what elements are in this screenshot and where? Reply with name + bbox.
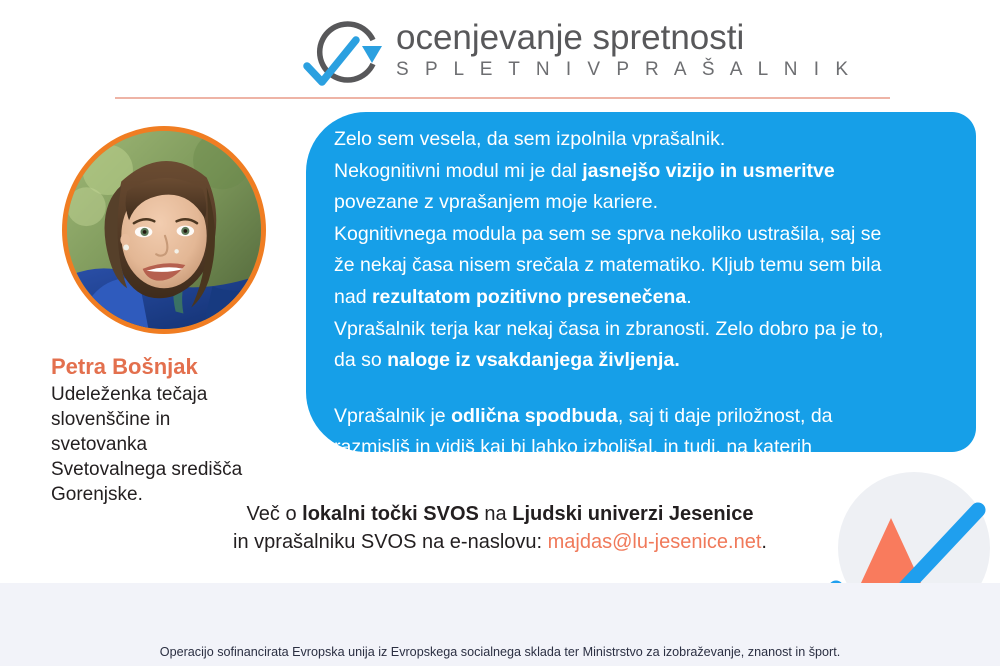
testimonial-line: področjih si dober. (334, 464, 954, 496)
circular-arrow-checkmark-logo-icon (303, 16, 389, 88)
testimonial-line: Kognitivnega modula pa sem se sprva neko… (334, 219, 954, 251)
person-role-line: Svetovalnega središča (51, 457, 291, 482)
testimonial-line: razmisliš in vidiš kaj bi lahko izboljša… (334, 432, 954, 464)
header-divider (115, 97, 890, 99)
person-name: Petra Bošnjak (51, 352, 291, 382)
person-info: Petra Bošnjak Udeleženka tečaja slovenšč… (51, 352, 291, 507)
logo-wordmark: ocenjevanje spretnosti S P L E T N I V P… (396, 18, 796, 82)
testimonial-line: Vprašalnik je odlična spodbuda, saj ti d… (334, 401, 954, 433)
contact-line-1: Več o lokalni točki SVOS na Ljudski univ… (0, 500, 1000, 528)
contact-line2-pre: in vprašalniku SVOS na e-naslovu: (233, 531, 548, 553)
poster-page: ocenjevanje spretnosti S P L E T N I V P… (0, 0, 1000, 666)
person-role-line: Udeleženka tečaja (51, 382, 291, 407)
contact-block: Več o lokalni točki SVOS na Ljudski univ… (0, 500, 1000, 556)
person-role-line: svetovanka (51, 432, 291, 457)
testimonial-line-gap (334, 377, 954, 401)
testimonial-line: Zelo sem vesela, da sem izpolnila vpraša… (334, 124, 954, 156)
testimonial-line: Nekognitivni modul mi je dal jasnejšo vi… (334, 156, 954, 188)
person-role-line: slovenščine in (51, 407, 291, 432)
footer-logos: REPUBLIKA SLOVENIJA MINISTRSTVO ZA IZOBR… (0, 590, 1000, 638)
testimonial-line: Vprašalnik terja kar nekaj časa in zbran… (334, 314, 954, 346)
testimonial-text: Zelo sem vesela, da sem izpolnila vpraša… (334, 124, 954, 496)
contact-line-2: in vprašalniku SVOS na e-naslovu: majdas… (0, 528, 1000, 556)
header: ocenjevanje spretnosti S P L E T N I V P… (0, 0, 1000, 92)
testimonial-line: nad rezultatom pozitivno presenečena. (334, 282, 954, 314)
portrait-photo (67, 131, 261, 329)
footer-note: Operacijo sofinancirata Evropska unija i… (0, 645, 1000, 659)
testimonial-line: povezane z vprašanjem moje kariere. (334, 187, 954, 219)
contact-line2-post: . (761, 531, 767, 553)
testimonial-line: da so naloge iz vsakdanjega življenja. (334, 345, 954, 377)
avatar (62, 126, 266, 334)
logo-title: ocenjevanje spretnosti (396, 18, 796, 58)
contact-institution: Ljudski univerzi Jesenice (512, 503, 753, 525)
logo-subtitle: S P L E T N I V P R A Š A L N I K (396, 58, 796, 82)
contact-line1-pre: Več o (247, 503, 303, 525)
testimonial-line: že nekaj časa nisem srečala z matematiko… (334, 250, 954, 282)
contact-local-point: lokalni točki SVOS (302, 503, 479, 525)
contact-line1-mid: na (479, 503, 512, 525)
email-link[interactable]: majdas@lu-jesenice.net (548, 531, 762, 553)
person-role: Udeleženka tečaja slovenščine in svetova… (51, 382, 291, 507)
